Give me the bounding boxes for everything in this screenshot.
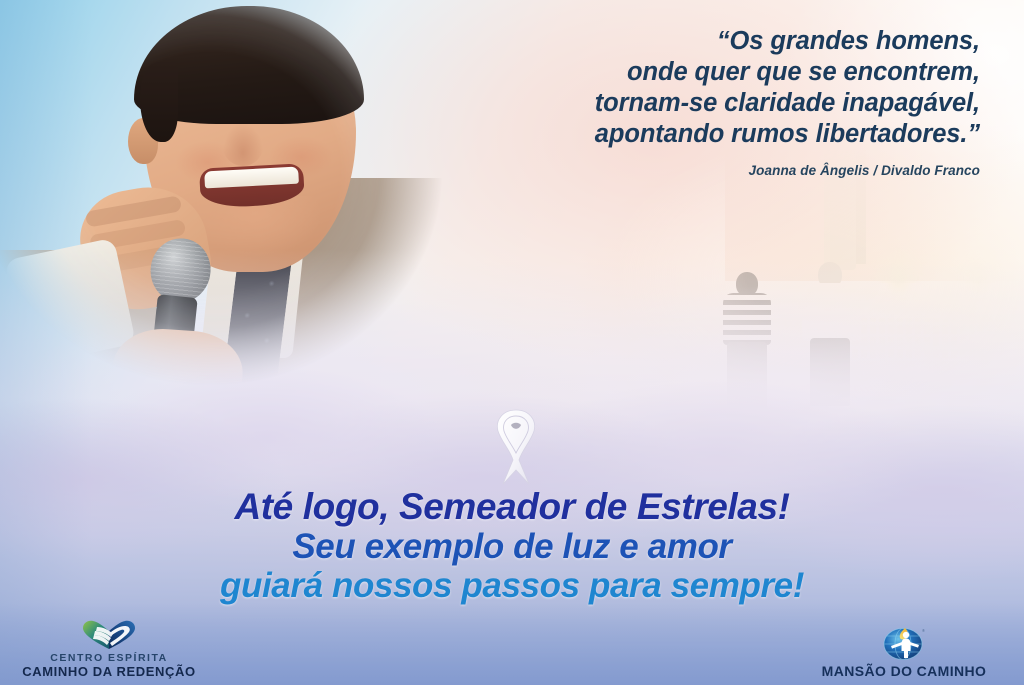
logo-left-line-1: CENTRO ESPÍRITA [14, 652, 204, 664]
hands-heart-icon [81, 620, 137, 650]
headline-line-1: Até logo, Semeador de Estrelas! [0, 486, 1024, 527]
logo-right-line-1: MANSÃO DO CAMINHO [794, 663, 1014, 679]
divaldo-franco-portrait [0, 0, 464, 430]
memorial-poster: “Os grandes homens, onde quer que se enc… [0, 0, 1024, 685]
logo-mansao-do-caminho: ® MANSÃO DO CAMINHO [794, 625, 1014, 679]
quote-block: “Os grandes homens, onde quer que se enc… [420, 26, 980, 178]
logo-left-line-2: CAMINHO DA REDENÇÃO [14, 664, 204, 679]
quote-attribution: Joanna de Ângelis / Divaldo Franco [420, 163, 980, 178]
globe-figure-icon: ® [881, 625, 927, 661]
svg-text:®: ® [922, 628, 925, 633]
portrait-bottom-fade [0, 0, 464, 430]
headline-block: Até logo, Semeador de Estrelas! Seu exem… [0, 486, 1024, 605]
quote-line-4: apontando rumos libertadores.” [420, 119, 980, 150]
quote-line-3: tornam-se claridade inapagável, [420, 88, 980, 119]
logo-centro-espirita: CENTRO ESPÍRITA CAMINHO DA REDENÇÃO [14, 620, 204, 679]
quote-line-2: onde quer que se encontrem, [420, 57, 980, 88]
quote-line-1: “Os grandes homens, [420, 26, 980, 57]
headline-line-2: Seu exemplo de luz e amor [0, 527, 1024, 566]
headline-line-3: guiará nossos passos para sempre! [0, 566, 1024, 605]
white-ribbon-icon [485, 408, 547, 486]
